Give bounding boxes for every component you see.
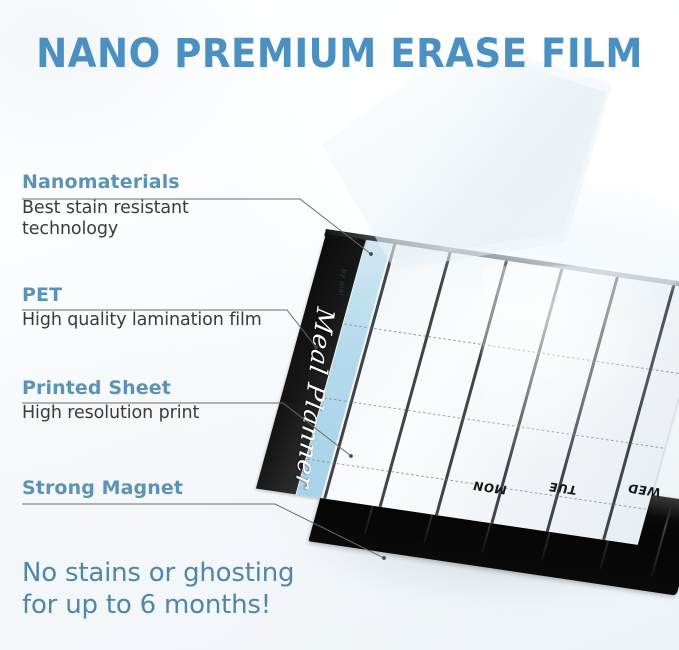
page-title: NANO PREMIUM ERASE FILM [24, 31, 655, 77]
callout-strong-magnet: Strong Magnet [22, 478, 183, 499]
callout-description: High resolution print [22, 403, 199, 424]
tagline-line-2: for up to 6 months! [22, 590, 294, 622]
magnetic-board: by pial Meal Planner MON TUE WED [286, 96, 679, 626]
callout-heading: Nanomaterials [22, 172, 274, 193]
tagline-line-1: No stains or ghosting [22, 558, 294, 590]
callout-heading: Printed Sheet [22, 378, 199, 399]
callout-description: Best stain resistant technology [22, 198, 274, 239]
callout-nanomaterials: Nanomaterials Best stain resistant techn… [22, 172, 274, 240]
background-corner-glow [0, 0, 265, 195]
tagline: No stains or ghosting for up to 6 months… [22, 558, 294, 621]
infographic-canvas: by pial Meal Planner MON TUE WED NANO PR… [0, 0, 679, 650]
callout-printed-sheet: Printed Sheet High resolution print [22, 378, 199, 424]
callout-heading: Strong Magnet [22, 478, 183, 499]
nano-film-highlight [482, 266, 679, 486]
callout-heading: PET [22, 285, 262, 306]
product-illustration: by pial Meal Planner MON TUE WED [286, 96, 679, 626]
callout-description: High quality lamination film [22, 310, 262, 331]
callout-pet: PET High quality lamination film [22, 285, 262, 331]
